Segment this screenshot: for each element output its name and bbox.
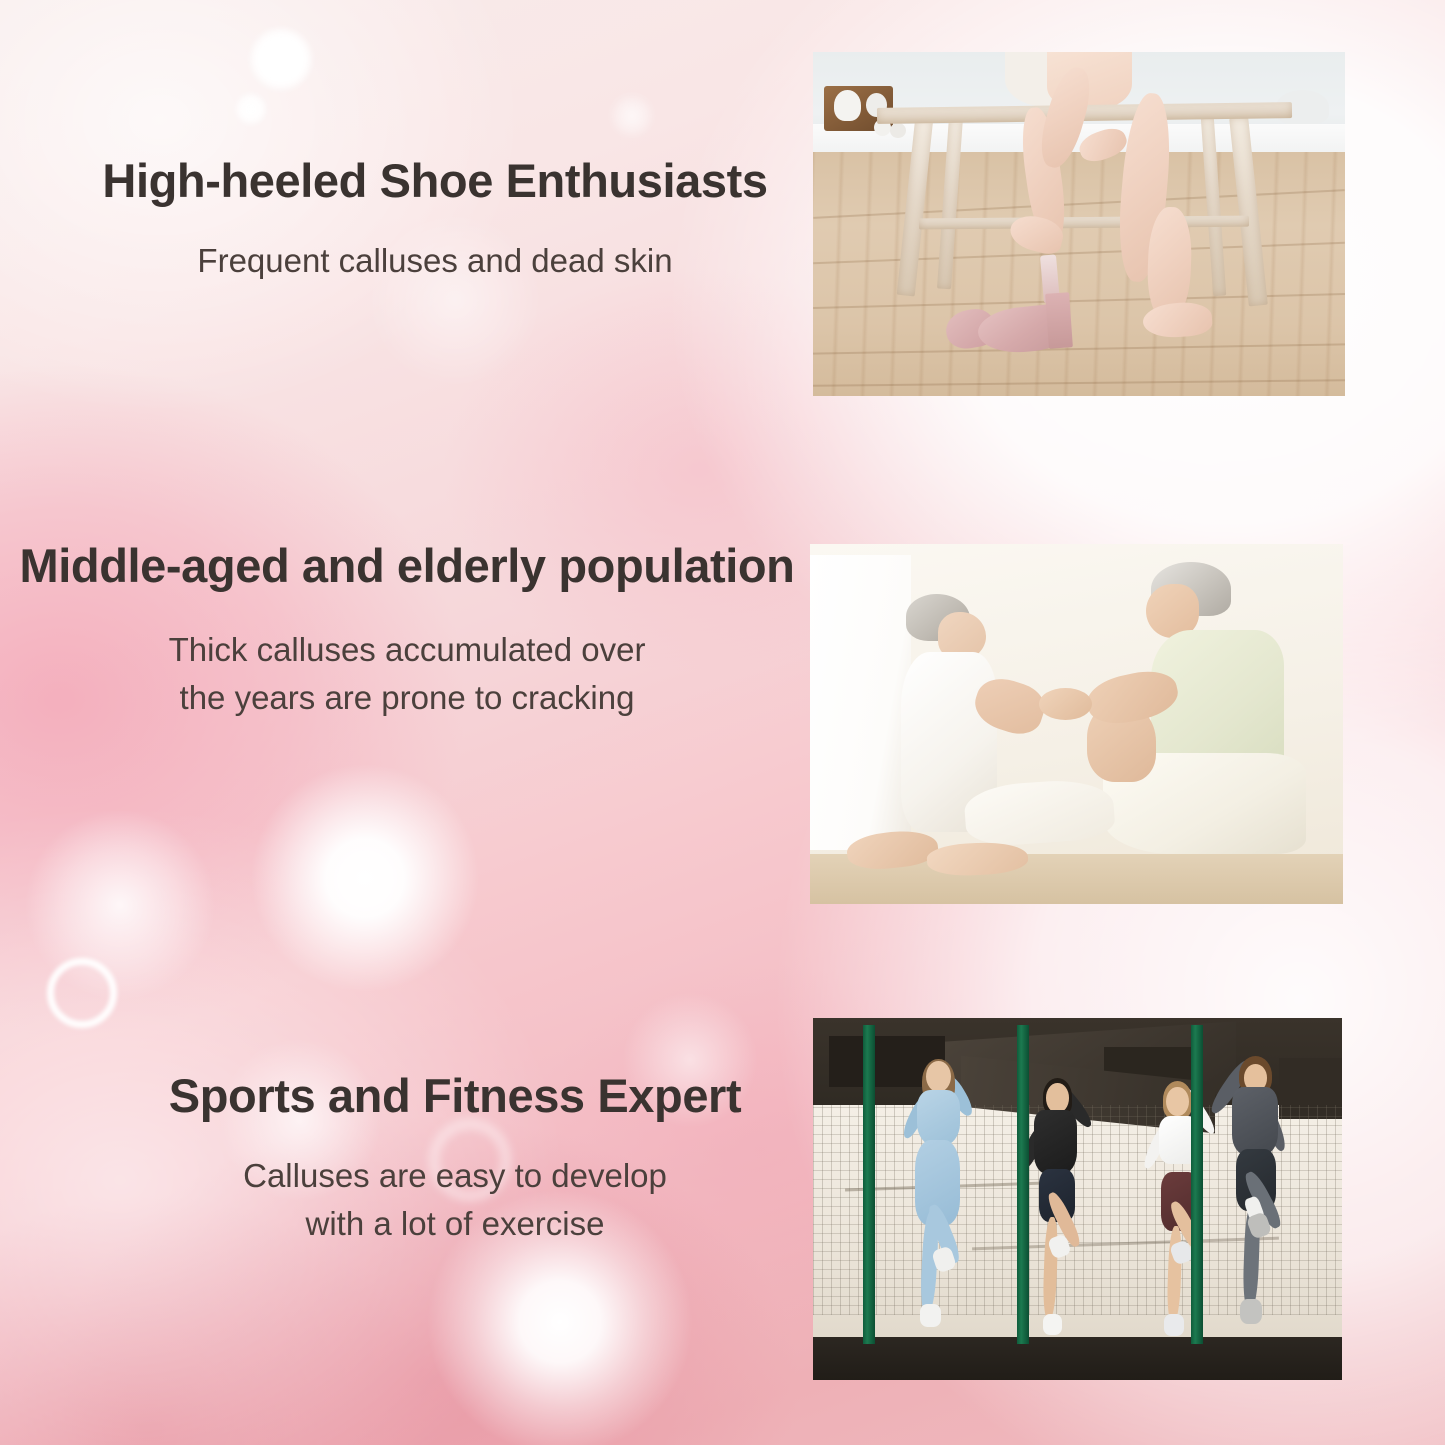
photo3-fence-post-2 [1017,1025,1029,1344]
photo3-athlete-white-head [1166,1087,1188,1116]
photo3-fence-post-1 [863,1025,875,1344]
block-1-subline: Frequent calluses and dead skin [60,237,810,285]
photo3-athlete-black-leg [1043,1217,1060,1319]
photo3-athlete-grey [1215,1061,1310,1343]
block-1-headline: High-heeled Shoe Enthusiasts [60,155,810,207]
photo3-athlete-blue [898,1061,993,1343]
block-2-photo-elderly-couple [810,544,1343,904]
bokeh-circle-faint-icon [612,96,652,136]
photo3-athlete-black-head [1046,1083,1068,1112]
photo3-fence-post-3 [1191,1025,1203,1344]
photo1-shoe-block-heel [1045,292,1073,349]
photo3-athlete-black-tshirt [1034,1110,1077,1174]
photo1-basket-towel-a [834,90,861,121]
photo3-athlete-blue-shoe [920,1304,941,1327]
block-2-headline: Middle-aged and elderly population [0,540,822,592]
photo3-athlete-blue-top [917,1090,961,1146]
block-3-photo-fitness-group [813,1018,1342,1380]
photo1-wood-floor [813,152,1345,396]
bokeh-ring-icon [47,958,117,1028]
infographic-page: High-heeled Shoe Enthusiasts Frequent ca… [0,0,1445,1445]
bokeh-circle-small-icon [236,94,266,124]
block-3-headline: Sports and Fitness Expert [105,1070,805,1122]
block-2-subline: Thick calluses accumulated over the year… [0,626,822,722]
block-3-text-column: Sports and Fitness Expert Calluses are e… [105,1070,805,1247]
block-3-subline: Calluses are easy to develop with a lot … [105,1152,805,1248]
bokeh-circle-large-icon [250,28,312,90]
block-2-text-column: Middle-aged and elderly population Thick… [0,540,822,721]
photo3-athlete-grey-shoe [1240,1299,1262,1324]
block-1-photo-high-heels [813,52,1345,396]
photo3-athlete-black-shoe [1043,1314,1063,1335]
block-1-text-column: High-heeled Shoe Enthusiasts Frequent ca… [60,155,810,285]
photo3-athlete-grey-shirt [1232,1087,1278,1155]
photo3-athlete-black [1019,1083,1109,1351]
photo3-athlete-white-shoe [1164,1314,1184,1335]
photo2-wall-panel [810,555,911,850]
